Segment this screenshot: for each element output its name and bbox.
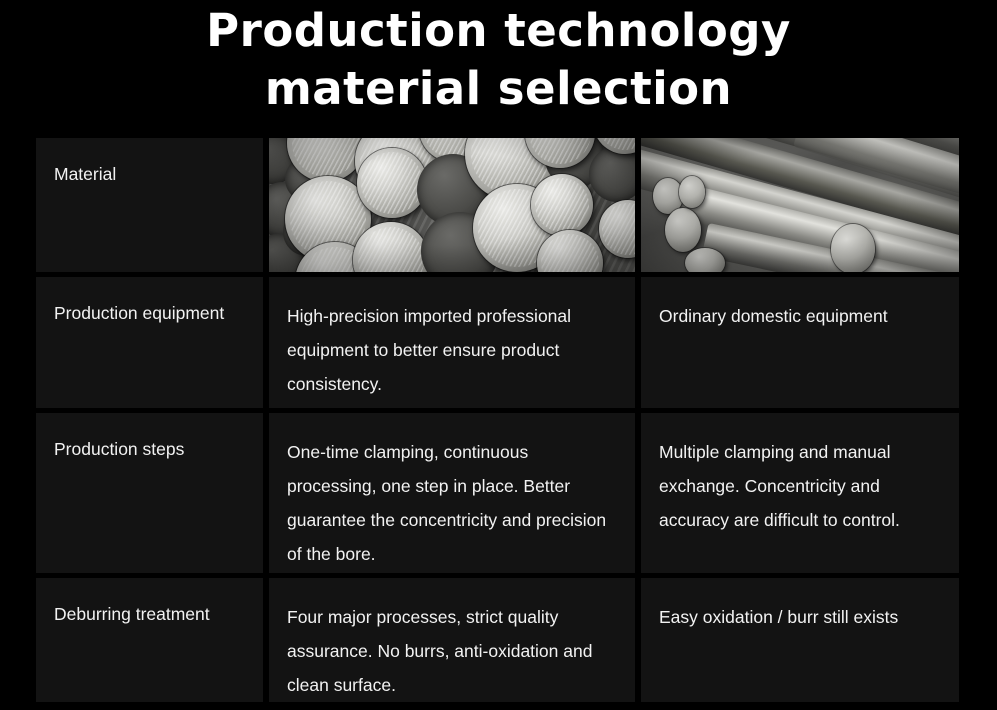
table-row: Production equipment High-precision impo… <box>36 277 959 408</box>
table-row: Material <box>36 138 959 272</box>
row-label-material: Material <box>36 138 263 272</box>
cell-text: Ordinary domestic equipment <box>641 277 959 333</box>
cell-bad-deburring-treatment: Easy oxidation / burr still exists <box>641 578 959 702</box>
page-title-line-2: material selection <box>0 60 997 118</box>
cell-good-production-steps: One-time clamping, continuous processing… <box>269 413 635 573</box>
page-title-line-1: Production technology <box>0 2 997 60</box>
table-row: Deburring treatment Four major processes… <box>36 578 959 702</box>
comparison-table: Material <box>36 138 959 707</box>
material-photo-bad <box>641 138 959 272</box>
row-label-text: Production equipment <box>36 277 263 325</box>
cell-text: High-precision imported professional equ… <box>269 277 635 401</box>
row-label-deburring-treatment: Deburring treatment <box>36 578 263 702</box>
cell-text: One-time clamping, continuous processing… <box>269 413 635 571</box>
cell-good-deburring-treatment: Four major processes, strict quality ass… <box>269 578 635 702</box>
row-label-text: Material <box>36 138 263 186</box>
cell-bad-production-steps: Multiple clamping and manual exchange. C… <box>641 413 959 573</box>
cell-text: Easy oxidation / burr still exists <box>641 578 959 634</box>
bar-end-bright <box>531 174 593 236</box>
bar-end-face <box>831 224 875 272</box>
row-label-production-equipment: Production equipment <box>36 277 263 408</box>
cell-text: Four major processes, strict quality ass… <box>269 578 635 702</box>
bar-end-face <box>679 176 705 208</box>
material-photo-good <box>269 138 635 272</box>
row-label-production-steps: Production steps <box>36 413 263 573</box>
cell-good-production-equipment: High-precision imported professional equ… <box>269 277 635 408</box>
round-bar-ends-image <box>269 138 635 272</box>
cell-text: Multiple clamping and manual exchange. C… <box>641 413 959 537</box>
bar-end-bright <box>357 148 427 218</box>
row-label-text: Deburring treatment <box>36 578 263 626</box>
page-title: Production technology material selection <box>0 0 997 118</box>
long-bars-image <box>641 138 959 272</box>
table-row: Production steps One-time clamping, cont… <box>36 413 959 573</box>
bar-end-face <box>665 208 701 252</box>
cell-bad-production-equipment: Ordinary domestic equipment <box>641 277 959 408</box>
bar-end-face <box>685 248 725 272</box>
row-label-text: Production steps <box>36 413 263 461</box>
